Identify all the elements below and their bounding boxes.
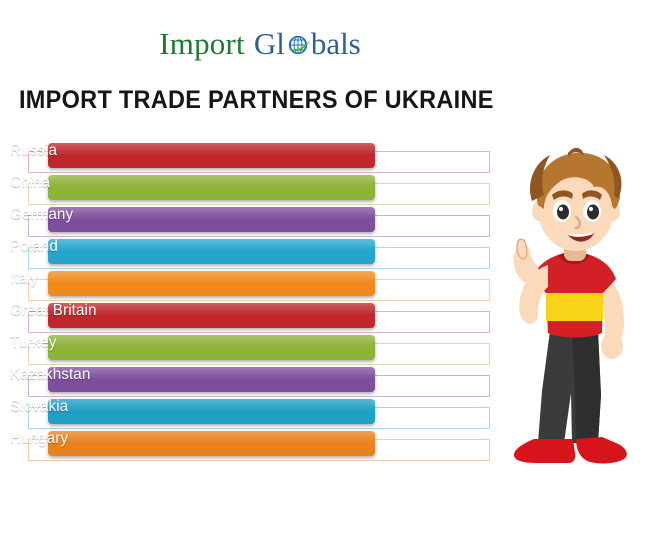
bar[interactable]: [48, 303, 375, 328]
bar[interactable]: [48, 335, 375, 360]
bar-label: Turkey: [10, 330, 56, 355]
globe-icon: [285, 32, 311, 58]
chart-row: Poland: [0, 234, 500, 266]
hand-right: [601, 333, 623, 359]
bar[interactable]: [48, 239, 375, 264]
eye-glint-left: [559, 207, 563, 211]
bar[interactable]: [48, 271, 375, 296]
bar-label: Italy: [10, 266, 38, 291]
bar-label: Russia: [10, 138, 57, 163]
shoe-right: [576, 437, 627, 463]
bar[interactable]: [48, 399, 375, 424]
bar-label: Hungary: [10, 426, 68, 451]
bar-label: Kazakhstan: [10, 362, 90, 387]
bar-label: Germany: [10, 202, 73, 227]
bar-label: Great Britain: [10, 298, 97, 323]
bar[interactable]: [48, 431, 375, 456]
logo-word-bals: bals: [311, 26, 361, 61]
chart-row: Turkey: [0, 330, 500, 362]
bar[interactable]: [48, 367, 375, 392]
logo-word-import: Import: [159, 26, 245, 61]
pants-shade: [572, 331, 601, 443]
pupil-right: [587, 205, 599, 220]
page-title: IMPORT TRADE PARTNERS OF UKRAINE: [19, 86, 494, 115]
bar-label: Poland: [10, 234, 58, 259]
bar-label: Slovakia: [10, 394, 68, 419]
shoe-left: [514, 439, 575, 463]
chart-row: China: [0, 170, 500, 202]
cartoon-boy-illustration: [498, 143, 650, 473]
eye-glint-right: [589, 207, 593, 211]
bar[interactable]: [48, 175, 375, 200]
pupil-left: [557, 205, 569, 220]
chart-row: Russia: [0, 138, 500, 170]
bar-label: China: [10, 170, 50, 195]
bar[interactable]: [48, 207, 375, 232]
chart-row: Germany: [0, 202, 500, 234]
chart-row: Italy: [0, 266, 500, 298]
logo-word-gl: Gl: [254, 26, 285, 61]
shirt-stripe: [546, 293, 603, 321]
bar[interactable]: [48, 143, 375, 168]
chart-row: Kazakhstan: [0, 362, 500, 394]
chart-row: Great Britain: [0, 298, 500, 330]
chart-row: Slovakia: [0, 394, 500, 426]
chart-row: Hungary: [0, 426, 500, 458]
brand-logo: ImportGl bals: [0, 28, 520, 59]
bar-chart: RussiaChinaGermanyPolandItalyGreat Brita…: [0, 138, 500, 478]
